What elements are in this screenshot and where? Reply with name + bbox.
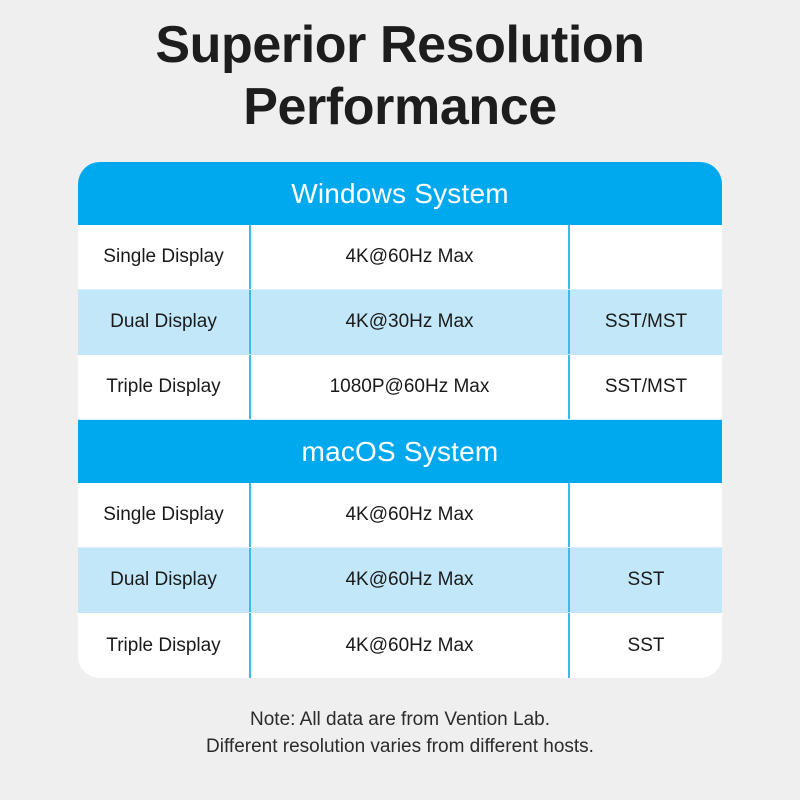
row-resolution-cell: 1080P@60Hz Max [251,355,570,419]
footer-note: Note: All data are from Vention Lab. Dif… [0,706,800,760]
row-resolution-text: 4K@60Hz Max [345,635,473,657]
page-title-line-2: Performance [0,76,800,138]
row-mode-cell: SST/MST [570,290,722,354]
row-resolution-cell: 4K@60Hz Max [251,225,570,289]
row-label-text: Single Display [103,504,223,526]
row-resolution-text: 4K@60Hz Max [345,569,473,591]
row-resolution-text: 4K@30Hz Max [345,311,473,333]
row-resolution-cell: 4K@60Hz Max [251,613,570,678]
section-header-macos-label: macOS System [302,436,499,468]
section-header-windows: Windows System [78,162,722,225]
row-mode-text: SST/MST [605,311,687,333]
table-row: Dual Display 4K@60Hz Max SST [78,548,722,613]
page-root: Superior Resolution Performance Windows … [0,0,800,800]
row-label-cell: Single Display [78,483,251,547]
row-label-cell: Triple Display [78,355,251,419]
table-row: Single Display 4K@60Hz Max [78,225,722,290]
row-mode-cell [570,225,722,289]
section-header-macos: macOS System [78,420,722,483]
row-resolution-cell: 4K@60Hz Max [251,483,570,547]
row-mode-cell: SST [570,613,722,678]
row-label-text: Triple Display [106,376,220,398]
page-title-line-1: Superior Resolution [0,14,800,76]
row-label-text: Dual Display [110,569,217,591]
footer-note-line-2: Different resolution varies from differe… [0,733,800,760]
row-mode-cell [570,483,722,547]
row-label-text: Single Display [103,246,223,268]
table-row: Dual Display 4K@30Hz Max SST/MST [78,290,722,355]
row-label-text: Triple Display [106,635,220,657]
row-label-text: Dual Display [110,311,217,333]
table-row: Single Display 4K@60Hz Max [78,483,722,548]
table-row: Triple Display 1080P@60Hz Max SST/MST [78,355,722,420]
page-title: Superior Resolution Performance [0,0,800,138]
row-mode-cell: SST/MST [570,355,722,419]
compatibility-table-card: Windows System Single Display 4K@60Hz Ma… [78,162,722,678]
row-label-cell: Single Display [78,225,251,289]
row-resolution-text: 1080P@60Hz Max [330,376,490,398]
row-label-cell: Dual Display [78,290,251,354]
row-resolution-cell: 4K@30Hz Max [251,290,570,354]
footer-note-line-1: Note: All data are from Vention Lab. [0,706,800,733]
table-row: Triple Display 4K@60Hz Max SST [78,613,722,678]
row-mode-cell: SST [570,548,722,612]
row-resolution-text: 4K@60Hz Max [345,504,473,526]
section-header-windows-label: Windows System [291,178,509,210]
row-label-cell: Dual Display [78,548,251,612]
row-mode-text: SST [628,569,665,591]
row-mode-text: SST [628,635,665,657]
row-resolution-text: 4K@60Hz Max [345,246,473,268]
row-label-cell: Triple Display [78,613,251,678]
row-resolution-cell: 4K@60Hz Max [251,548,570,612]
row-mode-text: SST/MST [605,376,687,398]
